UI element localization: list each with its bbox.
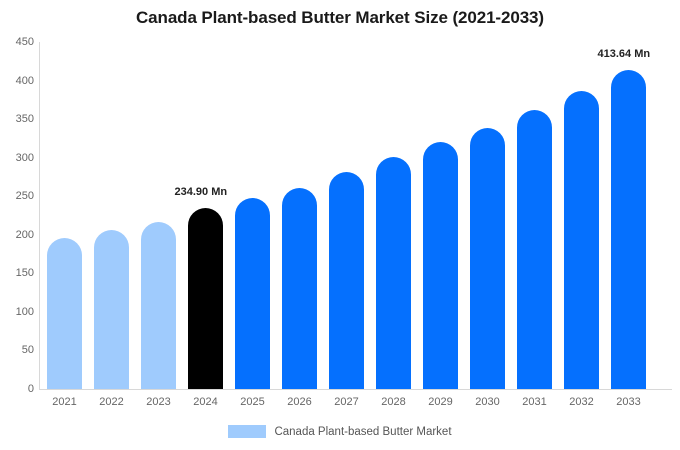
bar[interactable] [141, 222, 176, 389]
bar[interactable] [423, 142, 458, 389]
x-axis-tick-label: 2026 [276, 396, 324, 408]
bar[interactable] [282, 188, 317, 389]
bar[interactable] [235, 198, 270, 389]
x-axis-tick-label: 2027 [323, 396, 371, 408]
bar-group[interactable] [188, 42, 223, 389]
bar-group[interactable] [141, 42, 176, 389]
bar[interactable] [329, 172, 364, 389]
x-axis-tick-label: 2028 [370, 396, 418, 408]
y-axis-tick-label: 350 [2, 113, 34, 125]
y-axis-tick-label: 0 [2, 383, 34, 395]
y-axis-tick-label: 250 [2, 190, 34, 202]
bar[interactable] [376, 157, 411, 389]
x-axis-tick-label: 2024 [182, 396, 230, 408]
bar[interactable] [564, 91, 599, 389]
bar-group[interactable] [47, 42, 82, 389]
plot-area [40, 42, 672, 389]
bar-group[interactable] [470, 42, 505, 389]
bar[interactable] [188, 208, 223, 389]
y-axis-tick-label: 100 [2, 306, 34, 318]
bar[interactable] [517, 110, 552, 389]
bar-group[interactable] [564, 42, 599, 389]
bar-group[interactable] [282, 42, 317, 389]
y-axis-tick-label: 400 [2, 75, 34, 87]
x-axis-tick-label: 2025 [229, 396, 277, 408]
y-axis-tick-label: 150 [2, 267, 34, 279]
y-axis-tick-label: 200 [2, 229, 34, 241]
bar-value-label: 413.64 Mn [598, 48, 651, 60]
bar-value-label: 234.90 Mn [175, 186, 228, 198]
y-axis-tick-label: 450 [2, 36, 34, 48]
y-axis-tick-label: 50 [2, 344, 34, 356]
bar-group[interactable] [517, 42, 552, 389]
x-axis-tick-label: 2033 [605, 396, 653, 408]
bar-group[interactable] [423, 42, 458, 389]
bar[interactable] [611, 70, 646, 389]
chart-legend: Canada Plant-based Butter Market [0, 425, 680, 438]
legend-label: Canada Plant-based Butter Market [274, 426, 451, 438]
bar[interactable] [47, 238, 82, 389]
chart-title: Canada Plant-based Butter Market Size (2… [0, 8, 680, 28]
chart-container: Canada Plant-based Butter Market Size (2… [0, 0, 680, 450]
bar-group[interactable] [376, 42, 411, 389]
bar-group[interactable] [611, 42, 646, 389]
x-axis-tick-label: 2030 [464, 396, 512, 408]
bar-group[interactable] [235, 42, 270, 389]
bar[interactable] [94, 230, 129, 389]
y-axis-tick-label: 300 [2, 152, 34, 164]
x-axis-tick-label: 2031 [511, 396, 559, 408]
x-axis-tick-label: 2021 [41, 396, 89, 408]
x-axis-tick-label: 2023 [135, 396, 183, 408]
bar-group[interactable] [329, 42, 364, 389]
y-axis-tick-labels: 050100150200250300350400450 [0, 0, 34, 450]
x-axis-tick-label: 2022 [88, 396, 136, 408]
x-axis-tick-label: 2029 [417, 396, 465, 408]
x-axis-tick-label: 2032 [558, 396, 606, 408]
x-axis-line [39, 389, 672, 390]
legend-swatch-icon [228, 425, 266, 438]
bar-group[interactable] [94, 42, 129, 389]
bar[interactable] [470, 128, 505, 389]
